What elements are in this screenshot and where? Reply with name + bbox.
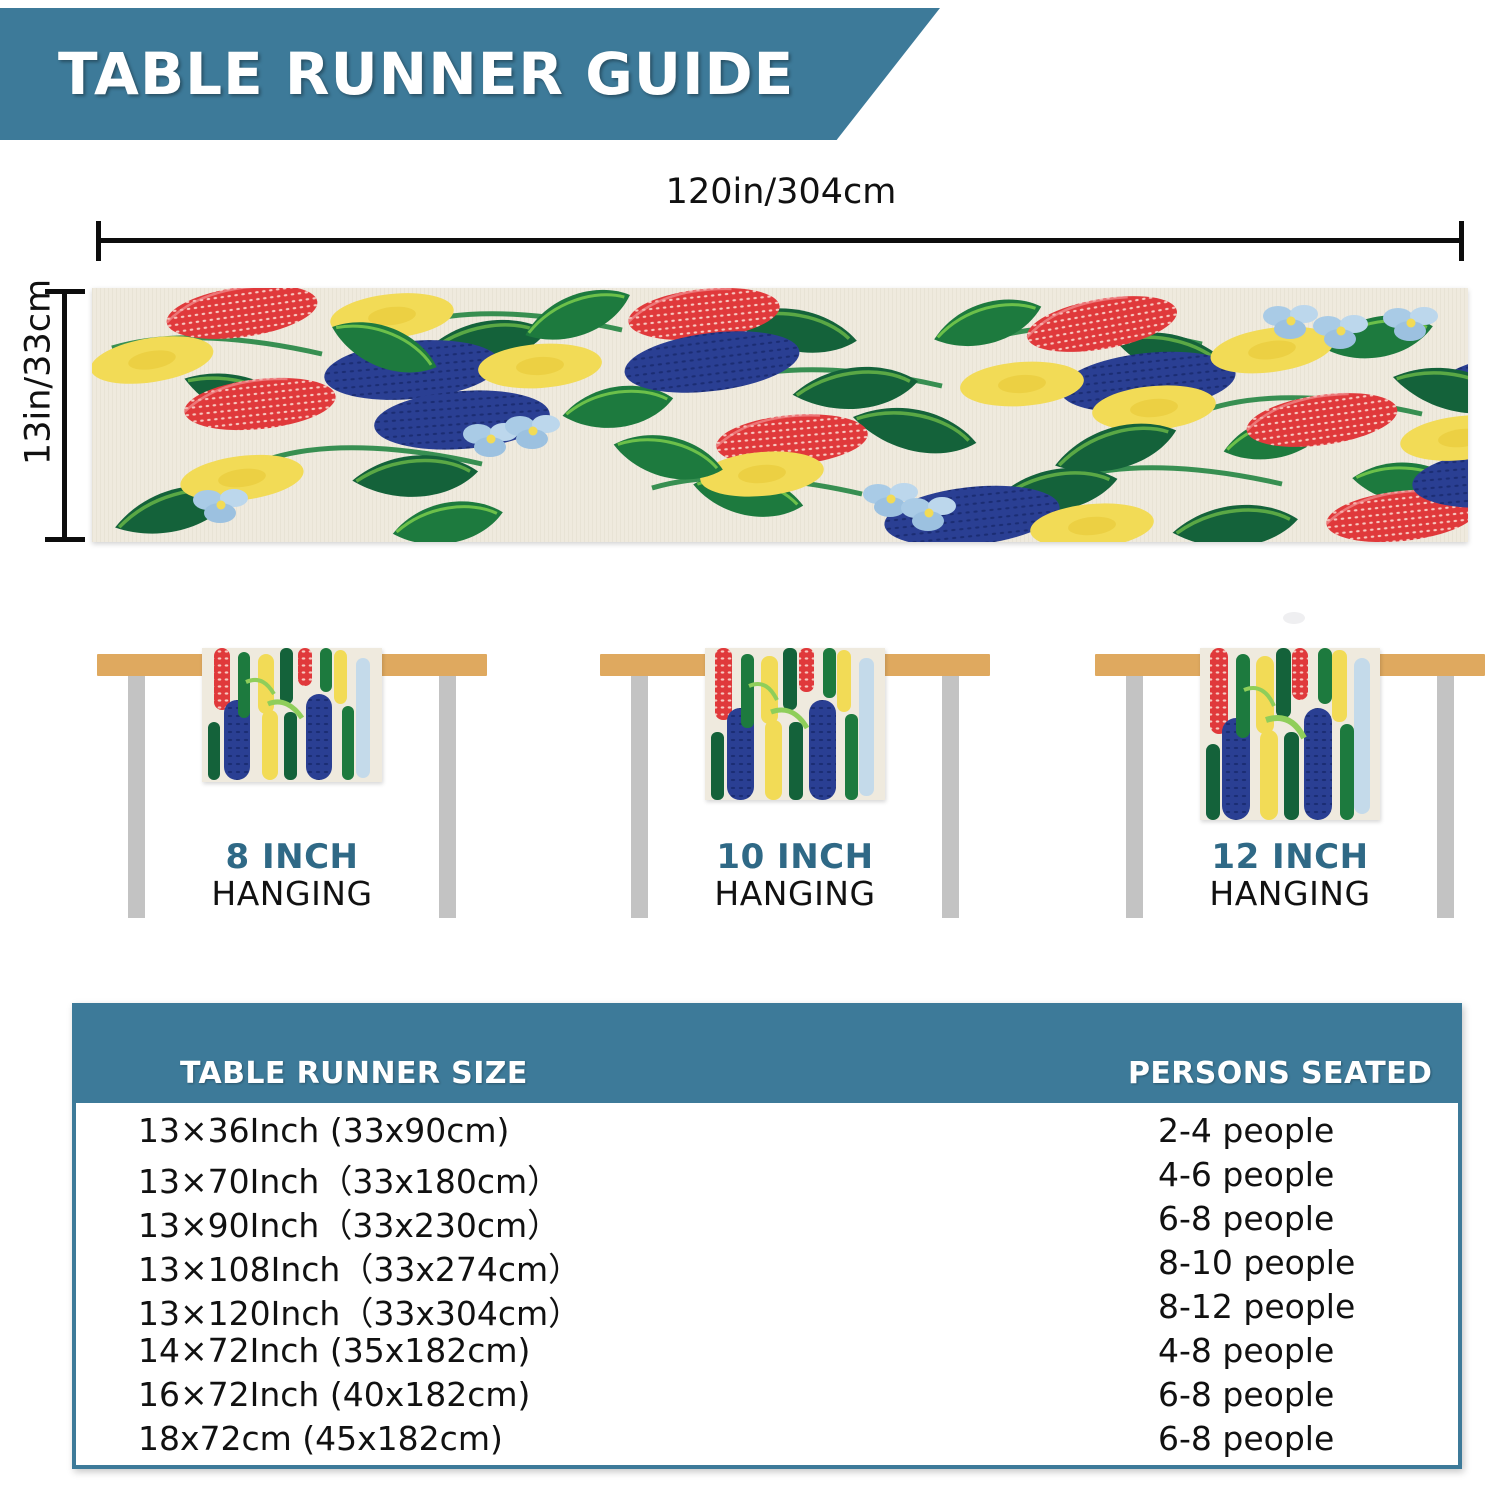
cell-persons-seated: 2-4 people [1158, 1111, 1334, 1150]
fabric-pattern-art [92, 288, 1468, 542]
cell-persons-seated: 8-12 people [1158, 1287, 1355, 1326]
runner-drape-sample [705, 648, 885, 800]
table-runner-product-image [92, 288, 1468, 542]
hanging-caption-8: 8 INCH HANGING [92, 838, 492, 913]
hanging-word-label: HANGING [1090, 876, 1490, 913]
table-row: 13×90Inch（33x230cm） 6-8 people [76, 1199, 1458, 1243]
table-row: 18x72cm (45x182cm) 6-8 people [76, 1419, 1458, 1463]
table-row: 16×72Inch (40x182cm) 6-8 people [76, 1375, 1458, 1419]
runner-drape-sample [202, 648, 382, 782]
header-banner: TABLE RUNNER GUIDE [0, 8, 940, 140]
cell-runner-size: 13×36Inch (33x90cm) [138, 1111, 509, 1150]
hanging-examples-row: 8 INCH HANGING [0, 620, 1493, 950]
hanging-example-8-inch: 8 INCH HANGING [92, 620, 492, 950]
length-dimension-line [96, 238, 1464, 243]
table-row: 13×70Inch（33x180cm） 4-6 people [76, 1155, 1458, 1199]
width-dimension-line [62, 289, 67, 542]
hanging-inches-label: 8 INCH [92, 838, 492, 876]
table-row: 13×36Inch (33x90cm) 2-4 people [76, 1111, 1458, 1155]
hanging-inches-label: 10 INCH [595, 838, 995, 876]
cell-runner-size: 14×72Inch (35x182cm) [138, 1331, 530, 1370]
hanging-example-10-inch: 10 INCH HANGING [595, 620, 995, 950]
table-row: 14×72Inch (35x182cm) 4-8 people [76, 1331, 1458, 1375]
cell-persons-seated: 6-8 people [1158, 1375, 1334, 1414]
hanging-inches-label: 12 INCH [1090, 838, 1490, 876]
cell-persons-seated: 6-8 people [1158, 1419, 1334, 1458]
table-row: 13×108Inch（33x274cm） 8-10 people [76, 1243, 1458, 1287]
fabric-pattern-art [1200, 648, 1380, 820]
hanging-example-12-inch: 12 INCH HANGING [1090, 620, 1490, 950]
cell-runner-size: 18x72cm (45x182cm) [138, 1419, 503, 1458]
hanging-word-label: HANGING [595, 876, 995, 913]
cell-persons-seated: 4-6 people [1158, 1155, 1334, 1194]
width-dimension-label: 13in/33cm [19, 246, 59, 499]
spec-table-body: 13×36Inch (33x90cm) 2-4 people 13×70Inch… [76, 1103, 1458, 1463]
table-row: 13×120Inch（33x304cm） 8-12 people [76, 1287, 1458, 1331]
length-dimension-label: 120in/304cm [96, 172, 1466, 212]
size-spec-table: TABLE RUNNER SIZE PERSONS SEATED 13×36In… [72, 1003, 1462, 1469]
runner-drape-sample [1200, 648, 1380, 820]
hanging-caption-10: 10 INCH HANGING [595, 838, 995, 913]
cell-persons-seated: 6-8 people [1158, 1199, 1334, 1238]
hanging-word-label: HANGING [92, 876, 492, 913]
cell-persons-seated: 4-8 people [1158, 1331, 1334, 1370]
cell-runner-size: 16×72Inch (40x182cm) [138, 1375, 530, 1414]
cell-runner-size: 13×120Inch（33x304cm） [138, 1287, 581, 1335]
spec-table-header-row: TABLE RUNNER SIZE PERSONS SEATED [76, 1007, 1458, 1103]
column-header-size: TABLE RUNNER SIZE [180, 1056, 528, 1091]
page-title: TABLE RUNNER GUIDE [58, 40, 794, 108]
column-header-seated: PERSONS SEATED [1128, 1056, 1432, 1091]
cell-persons-seated: 8-10 people [1158, 1243, 1355, 1282]
fabric-pattern-art [705, 648, 885, 800]
hanging-caption-12: 12 INCH HANGING [1090, 838, 1490, 913]
fabric-pattern-art [202, 648, 382, 782]
cell-runner-size: 13×108Inch（33x274cm） [138, 1243, 581, 1291]
cell-runner-size: 13×70Inch（33x180cm） [138, 1155, 560, 1203]
cell-runner-size: 13×90Inch（33x230cm） [138, 1199, 560, 1247]
